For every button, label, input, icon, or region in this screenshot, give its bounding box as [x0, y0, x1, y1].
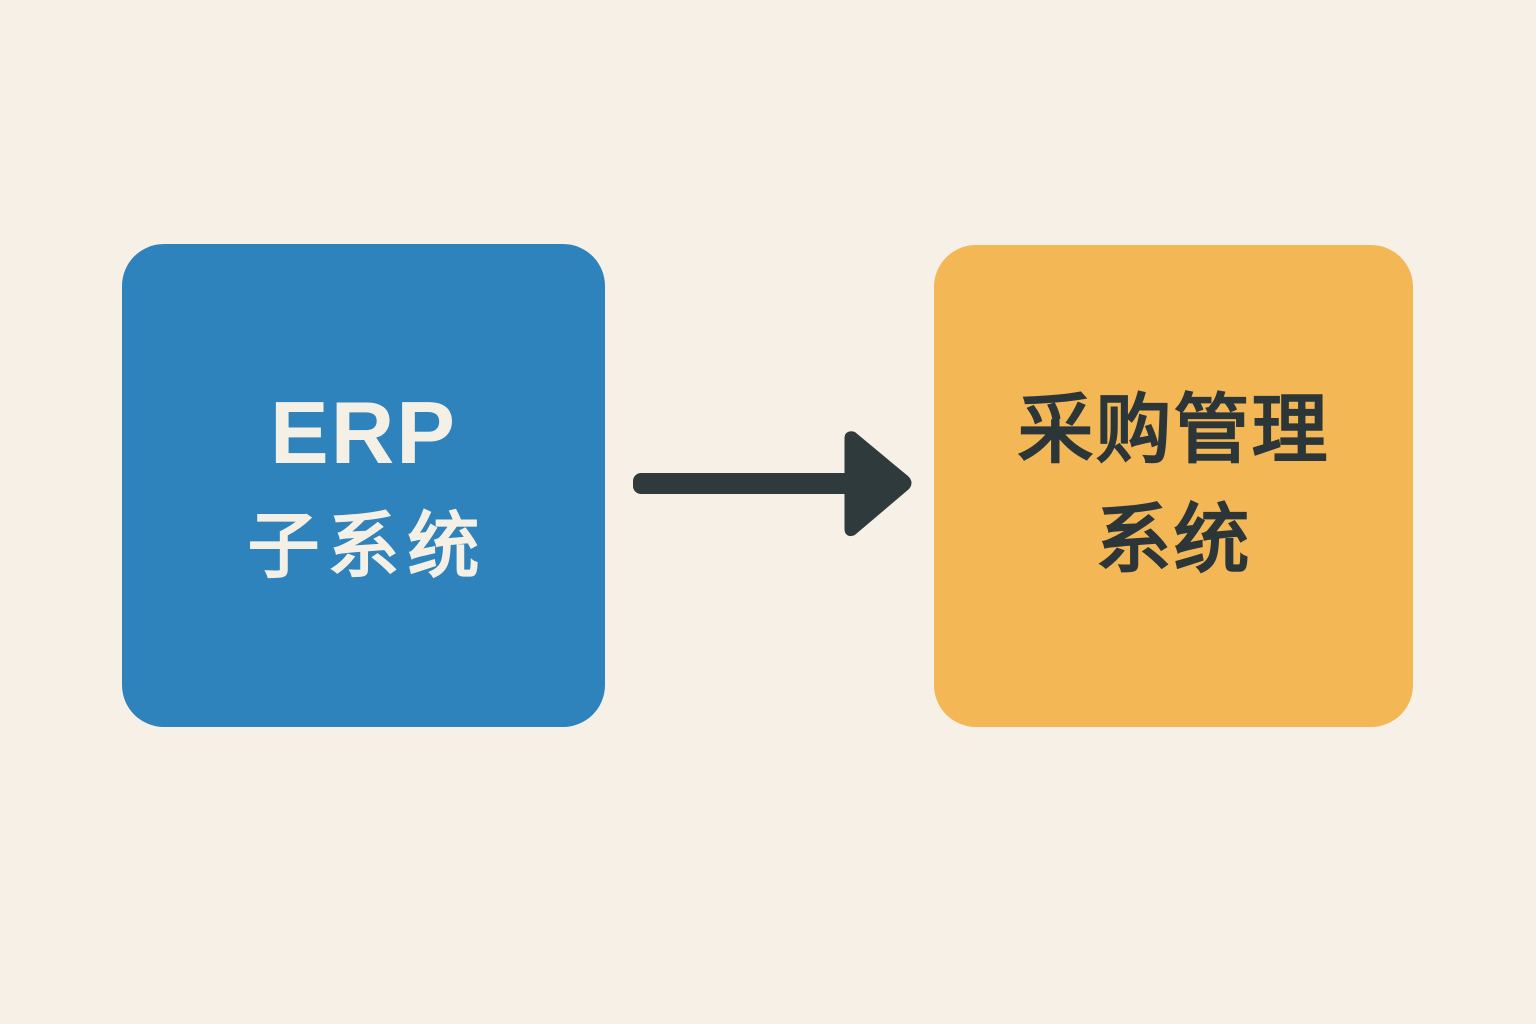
arrow-right-icon — [625, 424, 917, 544]
diagram-node-erp-subsystem[interactable]: ERP 子系统 — [122, 244, 605, 727]
node-label-line-1: ERP — [270, 389, 457, 477]
node-label-line-2: 系统 — [1096, 503, 1252, 579]
arrow-shaft — [633, 473, 855, 494]
arrow-head — [848, 435, 908, 533]
arrow-right-shape — [625, 424, 917, 544]
node-label-line-2: 子系统 — [239, 511, 487, 583]
diagram-canvas: ERP 子系统 采购管理 系统 — [0, 0, 1536, 1024]
node-label-line-1: 采购管理 — [1018, 393, 1330, 469]
diagram-node-procurement-management-system[interactable]: 采购管理 系统 — [934, 245, 1413, 727]
